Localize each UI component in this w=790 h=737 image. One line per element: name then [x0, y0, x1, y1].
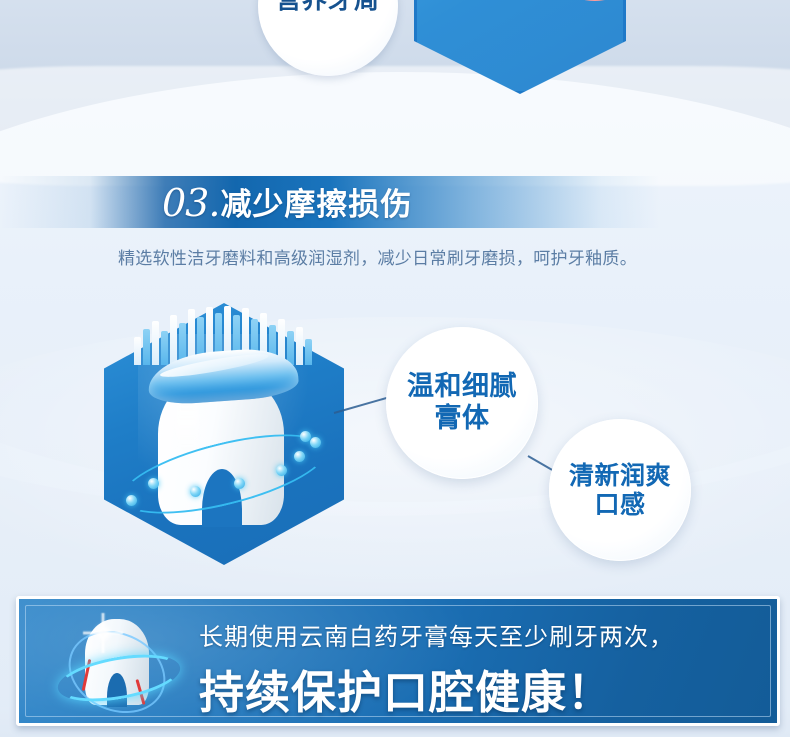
banner-line-2: 持续保护口腔健康！ [199, 656, 779, 721]
section-title: 减少摩擦损伤 [220, 187, 412, 223]
benefit-circle-label: 温和细腻 膏体 [407, 371, 517, 435]
bottom-call-to-action-banner: 长期使用云南白药牙膏每天至少刷牙两次， 持续保护口腔健康！ [16, 596, 780, 726]
benefit-line-2: 口感 [569, 490, 671, 520]
benefit-circle-fresh-taste: 清新润爽 口感 [549, 419, 691, 561]
orbit-particle [310, 437, 321, 448]
orbit-particle [234, 478, 245, 489]
section-heading: 03.减少摩擦损伤 [162, 179, 412, 225]
orbit-particle [148, 478, 159, 489]
benefit-line-1: 温和细腻 [407, 371, 517, 403]
section-number: 03. [162, 181, 219, 225]
benefit-line-1: 清新润爽 [569, 461, 671, 491]
orbit-particle [190, 486, 201, 497]
glowing-tooth-icon [61, 611, 171, 715]
orbit-particle [126, 495, 137, 506]
sparkle-icon [83, 613, 123, 653]
benefit-line-2: 膏体 [407, 403, 517, 435]
toothbrush-tooth-hexagon-icon [104, 303, 344, 565]
banner-line-1: 长期使用云南白药牙膏每天至少刷牙两次， [199, 617, 779, 652]
orbit-particle [276, 465, 287, 476]
benefit-circle-label: 清新润爽 口感 [569, 461, 671, 520]
section-subtitle: 精选软性洁牙磨料和高级润湿剂，减少日常刷牙磨损，呵护牙釉质。 [118, 244, 637, 269]
product-detail-page: 营养牙周 03.减少摩擦损伤 精选软性洁牙磨料和高级润湿剂，减少日常刷牙磨损，呵… [0, 0, 790, 737]
blossom-icon [545, 0, 626, 1]
previous-section-circle-label: 营养牙周 [258, 0, 398, 16]
background-curve-highlight [0, 66, 790, 186]
benefit-circle-mild-texture: 温和细腻 膏体 [386, 327, 538, 479]
banner-text-block: 长期使用云南白药牙膏每天至少刷牙两次， 持续保护口腔健康！ [199, 617, 779, 721]
orbit-particle [294, 451, 305, 462]
